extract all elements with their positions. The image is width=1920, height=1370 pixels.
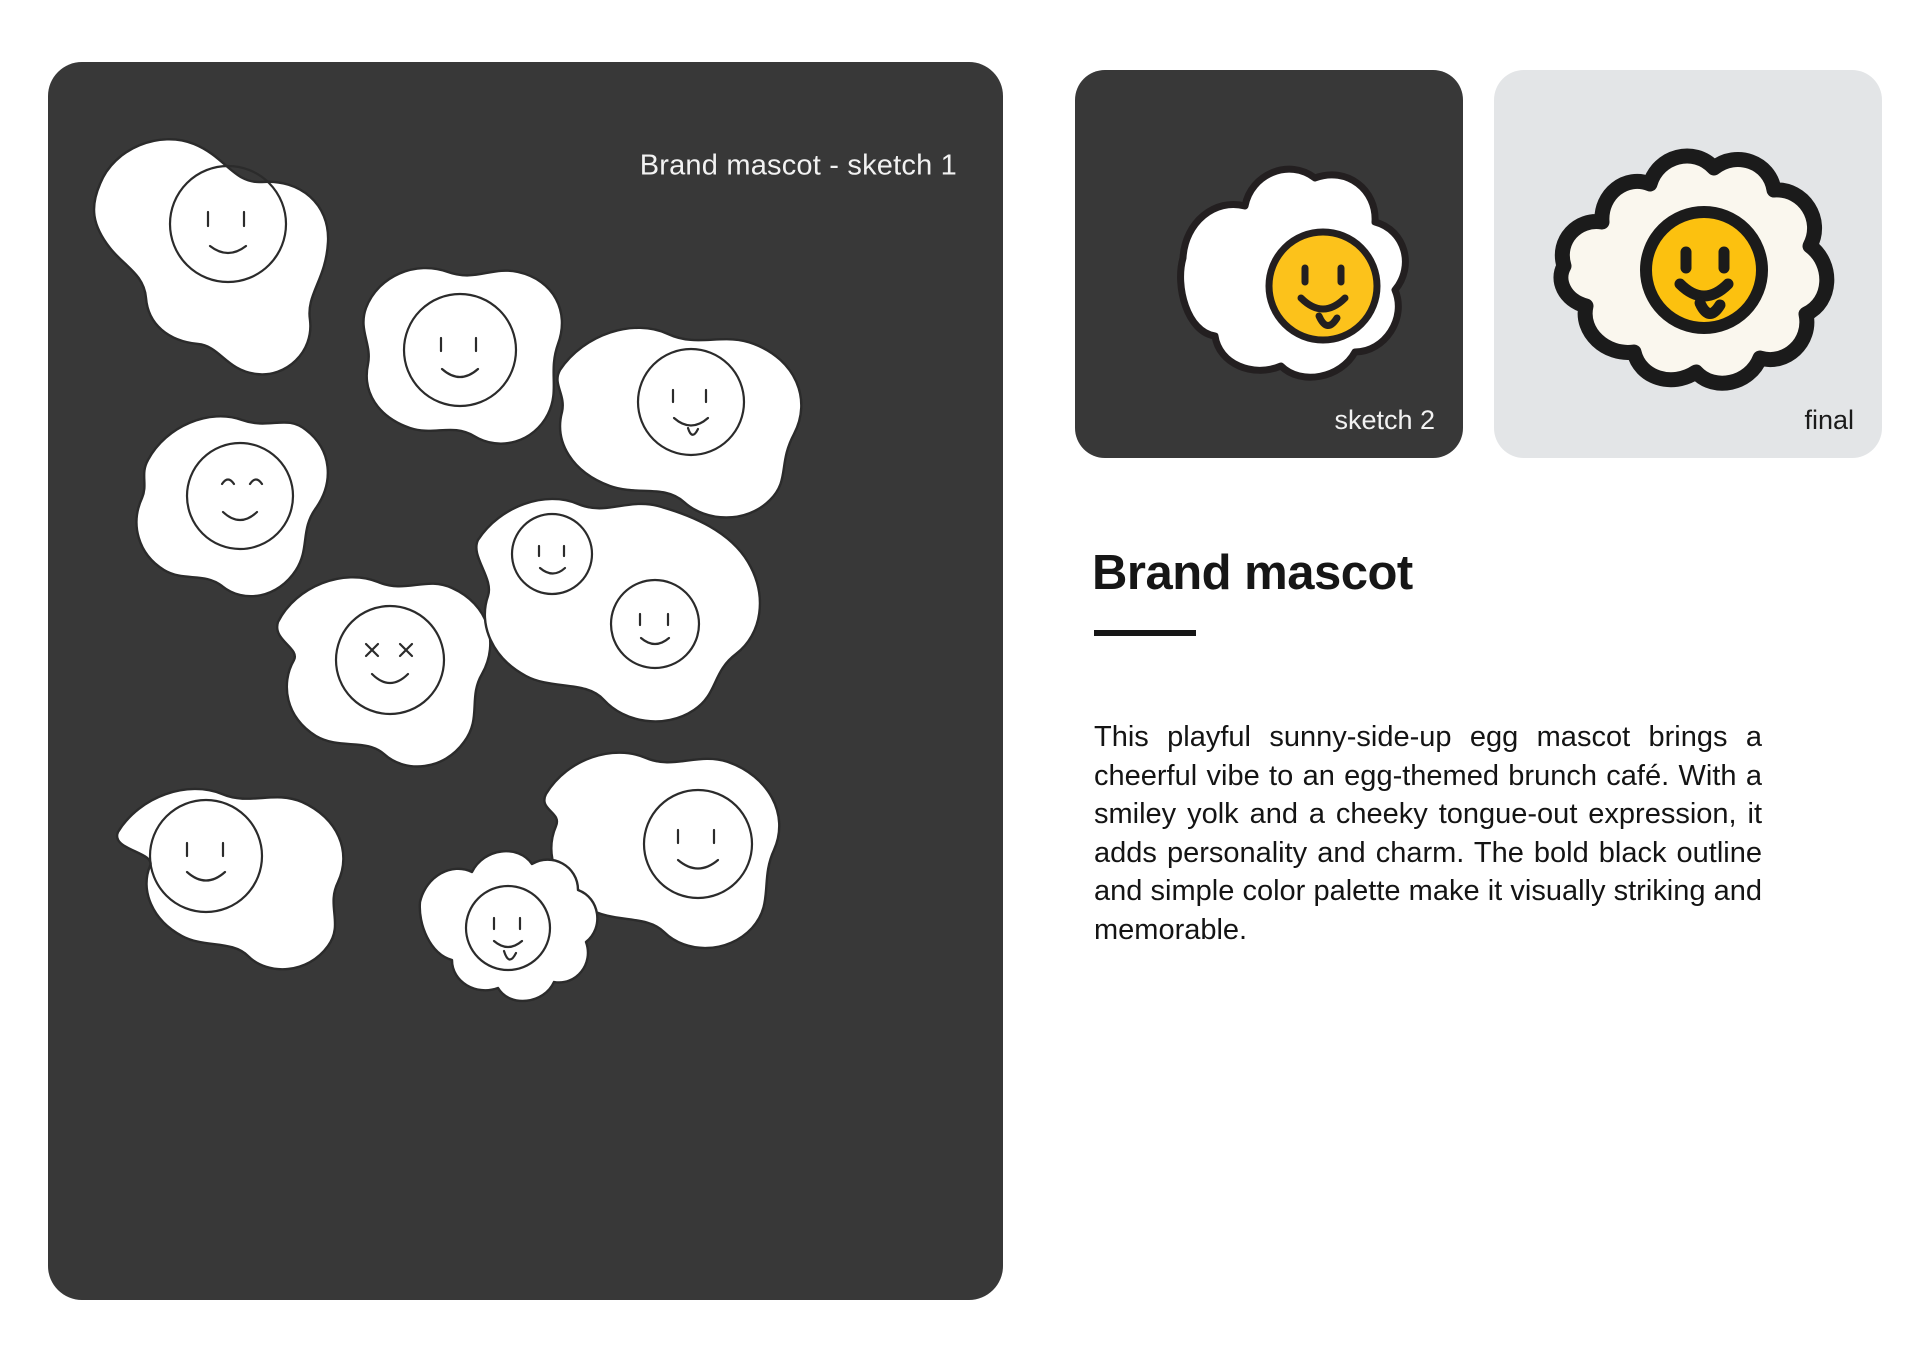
thumbnail-label-sketch-2: sketch 2 — [1334, 405, 1435, 436]
sketch-egg-blob-1 — [94, 139, 328, 374]
sketch-egg-blob-9 — [420, 851, 598, 1001]
board-title: Brand mascot - sketch 1 — [640, 150, 957, 183]
final-egg-illustration — [1494, 70, 1882, 458]
sketch-egg-collection — [48, 62, 1003, 1300]
sketch-egg-blob-8 — [117, 789, 343, 969]
description-paragraph: This playful sunny-side-up egg mascot br… — [1094, 718, 1762, 949]
egg-yolk — [1646, 212, 1762, 328]
page-title: Brand mascot — [1092, 545, 1413, 601]
sketch-2-egg-illustration — [1075, 70, 1463, 458]
egg-yolk — [1269, 232, 1377, 340]
portfolio-page: Brand mascot - sketch 1 sketch 2 — [0, 0, 1920, 1370]
thumbnail-final[interactable]: final — [1494, 70, 1882, 458]
sketch-board-panel: Brand mascot - sketch 1 — [48, 62, 1003, 1300]
title-underline-rule — [1094, 630, 1196, 636]
thumbnail-sketch-2[interactable]: sketch 2 — [1075, 70, 1463, 458]
thumbnail-label-final: final — [1804, 405, 1854, 436]
